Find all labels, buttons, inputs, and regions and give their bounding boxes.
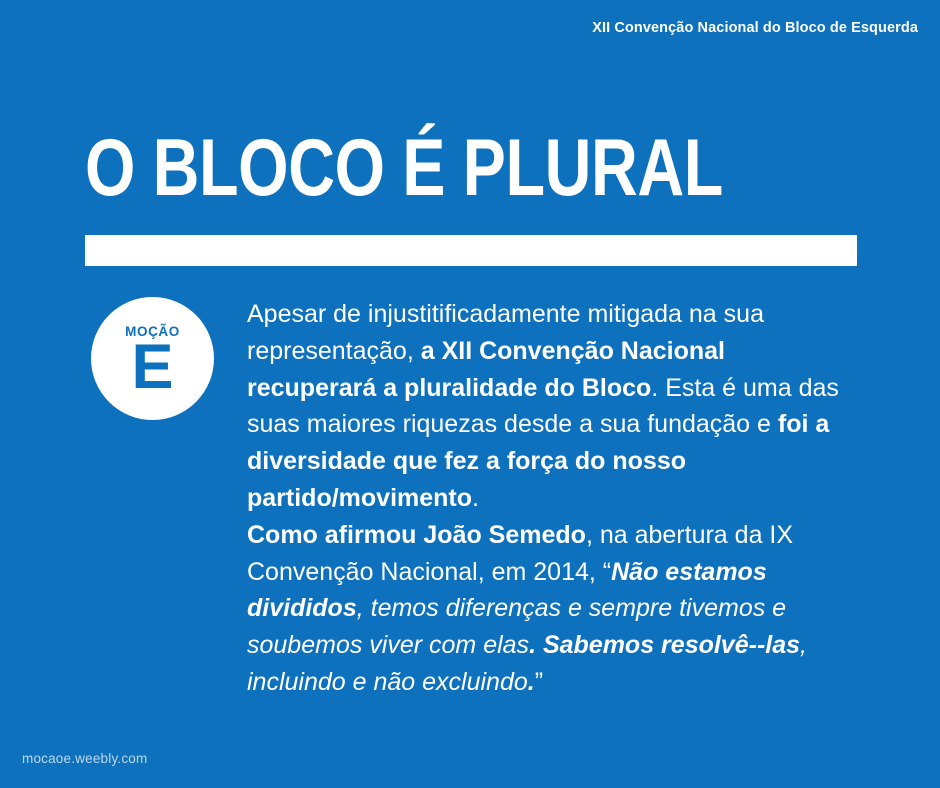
footer-site-url: mocaoe.weebly.com [22, 751, 147, 766]
body-text: Apesar de injustitificadamente mitigada … [247, 296, 847, 701]
quote-text-bold-italic: . [528, 668, 535, 696]
body-text-bold: Como afirmou João Semedo [247, 521, 586, 549]
body-paragraph-1: Apesar de injustitificadamente mitigada … [247, 300, 839, 512]
title-underline-bar [85, 235, 857, 266]
body-text-run: . [472, 484, 479, 512]
slide-canvas: XII Convenção Nacional do Bloco de Esque… [0, 0, 940, 788]
page-title: O BLOCO É PLURAL [85, 126, 723, 210]
slide-header-title: XII Convenção Nacional do Bloco de Esque… [592, 20, 918, 36]
motion-badge: MOÇÃO E [91, 297, 214, 420]
closing-quote-mark: ” [535, 668, 543, 696]
body-paragraph-2: Como afirmou João Semedo, na abertura da… [247, 521, 807, 696]
motion-badge-letter: E [131, 343, 173, 392]
quote-text-bold-italic: . Sabemos resolvê--las [529, 631, 800, 659]
